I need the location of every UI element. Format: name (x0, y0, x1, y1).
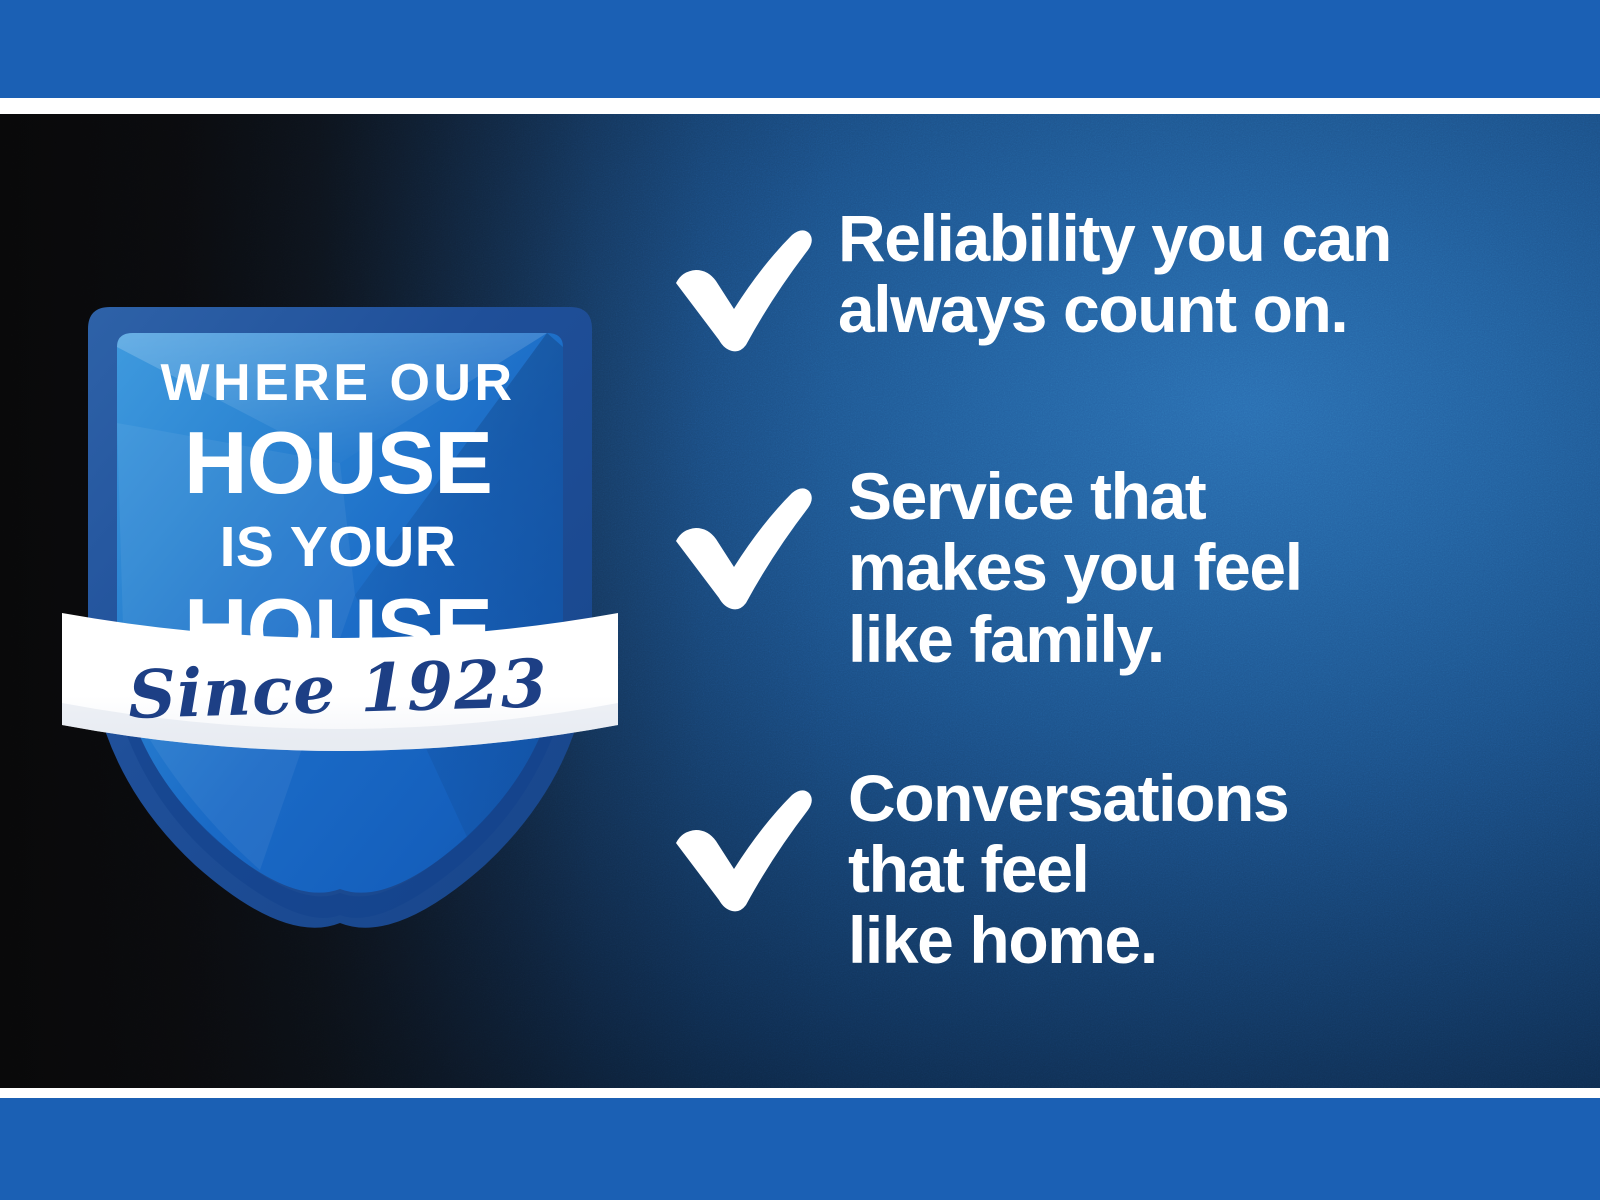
shield-line-house-1: HOUSE (88, 419, 588, 507)
bottom-brand-bar (0, 1098, 1600, 1200)
benefit-line-2: always count on. (838, 274, 1540, 345)
benefit-item-conversations: Conversations that feel like home. (660, 763, 1540, 977)
benefit-text: Service that makes you feel like family. (848, 461, 1540, 675)
shield-line-where: WHERE OUR (88, 357, 588, 409)
benefits-list: Reliability you can always count on. Ser… (660, 195, 1540, 977)
check-icon (668, 479, 816, 611)
check-icon (668, 221, 816, 353)
top-brand-bar (0, 0, 1600, 98)
benefit-item-reliability: Reliability you can always count on. (660, 203, 1540, 353)
benefit-line-2: that feel (848, 834, 1540, 905)
promo-poster: WHERE OUR HOUSE IS YOUR HOUSE Since 1923… (0, 0, 1600, 1200)
benefit-item-service: Service that makes you feel like family. (660, 461, 1540, 675)
shield-line-is-your: IS YOUR (88, 519, 588, 576)
benefit-line-2: makes you feel (848, 532, 1540, 603)
benefit-line-3: like home. (848, 905, 1540, 976)
benefit-line-3: like family. (848, 604, 1540, 675)
shield-lettering: WHERE OUR HOUSE IS YOUR HOUSE (88, 305, 588, 674)
ribbon-since-text: Since 1923 (61, 642, 615, 735)
benefit-line-1: Reliability you can (838, 203, 1540, 274)
benefit-line-1: Conversations (848, 763, 1540, 834)
benefit-text: Conversations that feel like home. (848, 763, 1540, 977)
check-icon (668, 781, 816, 913)
benefit-line-1: Service that (848, 461, 1540, 532)
benefit-text: Reliability you can always count on. (838, 203, 1540, 346)
